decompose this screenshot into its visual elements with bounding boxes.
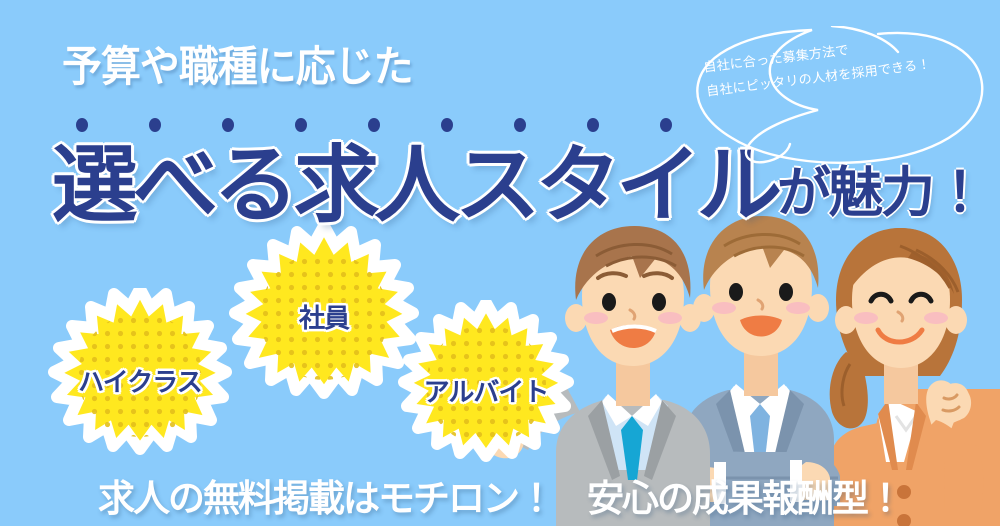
recruitment-banner: ハイクラス 社員: [0, 0, 1000, 526]
emphasis-dot: [660, 118, 672, 132]
badge-label: アルバイト: [384, 372, 588, 409]
speech-bubble: 自社に合った募集方法で 自社にピッタリの人材を採用できる！: [672, 26, 990, 176]
bottom-text-left: 求人の無料掲載はモチロン！: [98, 479, 553, 520]
headline-main: 選べる求人スタイル: [52, 145, 777, 226]
bottom-strapline: 求人の無料掲載はモチロン！ 安心の成果報酬型！: [0, 479, 1000, 520]
badge-parttime[interactable]: アルバイト: [384, 300, 588, 478]
emphasis-dot: [441, 118, 453, 132]
emphasis-dot: [587, 118, 599, 132]
emphasis-dot: [222, 118, 234, 132]
emphasis-dot: [149, 118, 161, 132]
emphasis-dot: [295, 118, 307, 132]
emphasis-dot: [514, 118, 526, 132]
emphasis-dot: [76, 118, 88, 132]
emphasis-dots-row: [76, 118, 672, 132]
emphasis-dot: [368, 118, 380, 132]
bottom-text-right: 安心の成果報酬型！: [587, 479, 902, 520]
